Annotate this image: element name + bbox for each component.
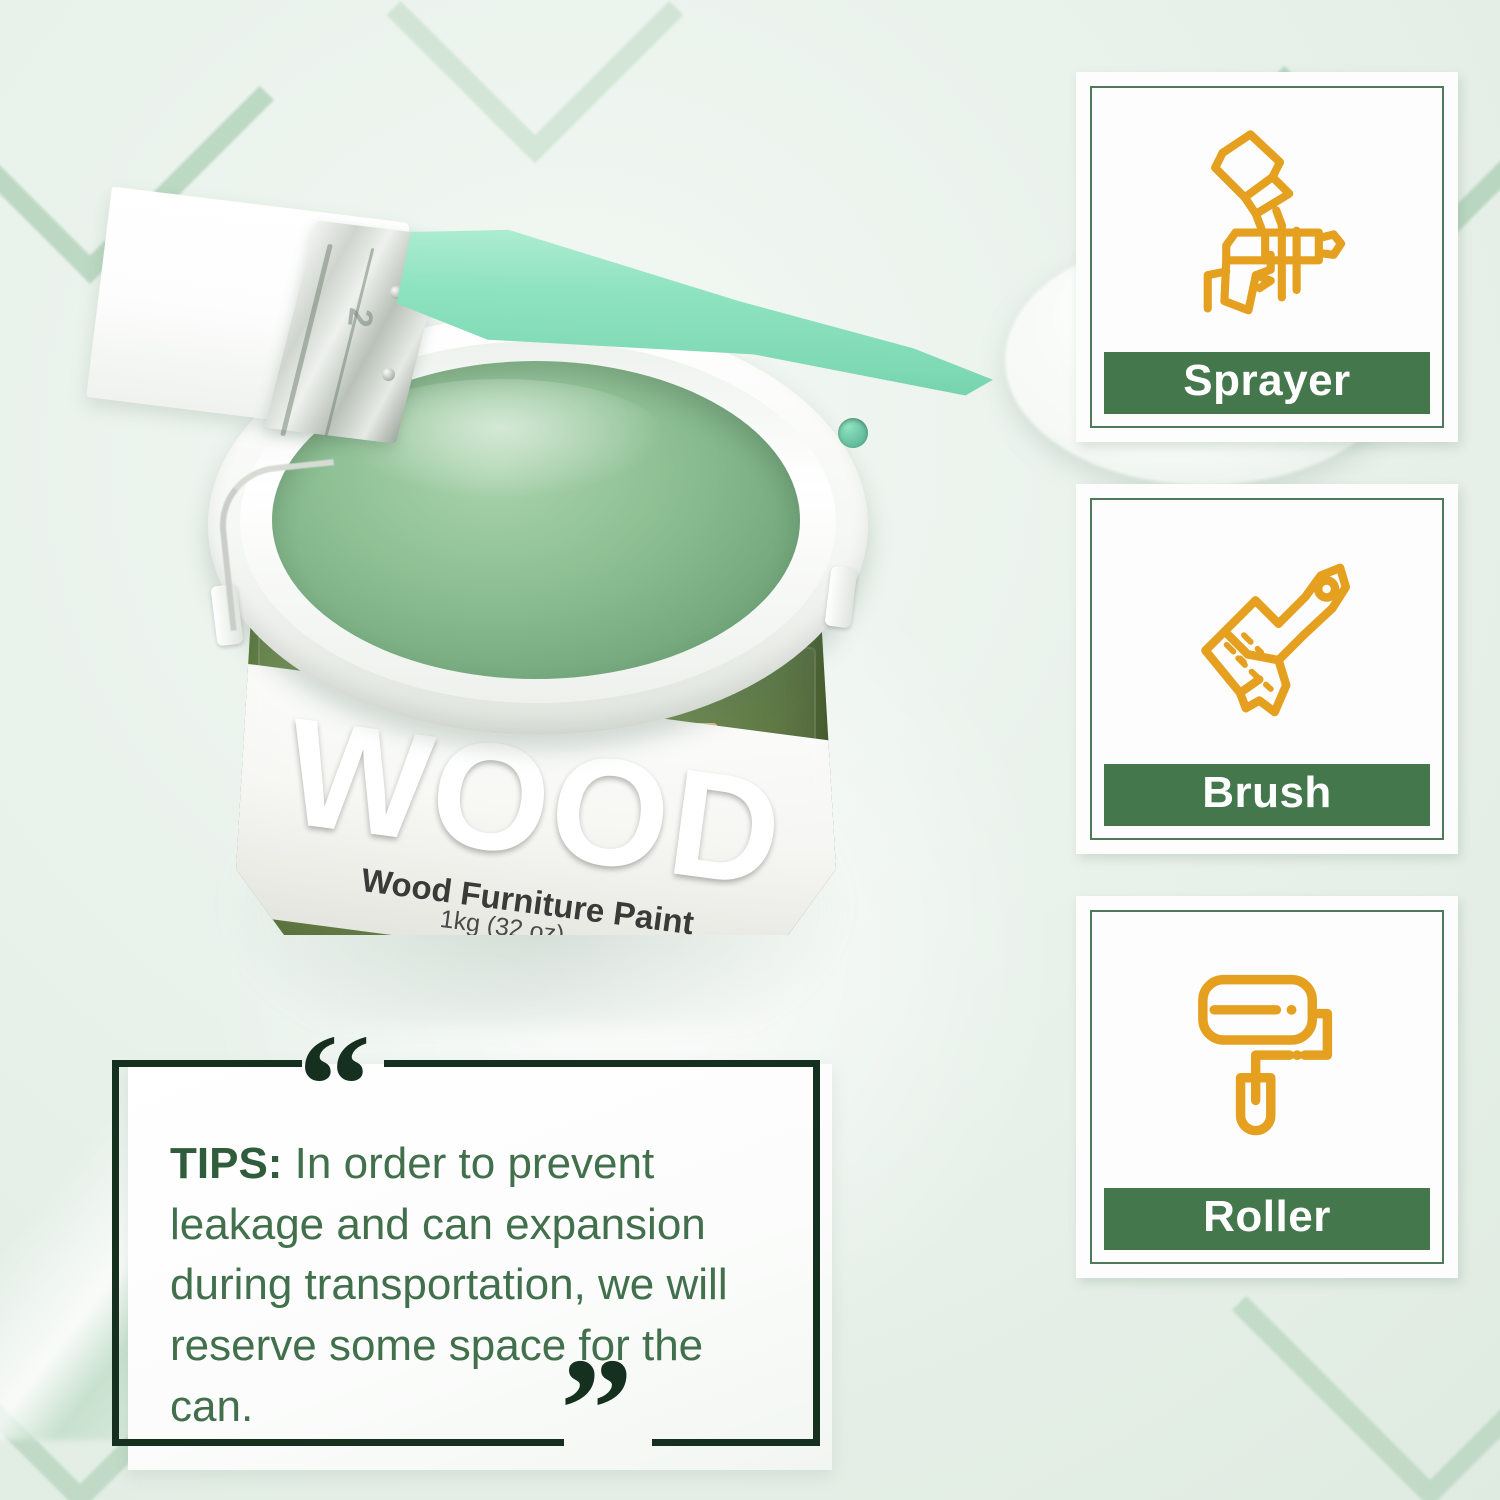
card-inner-border: Brush [1090,498,1444,840]
tips-callout: “ ” TIPS: In order to prevent leakage an… [112,1048,824,1458]
tips-border-bottom-right [652,1439,820,1446]
application-card-roller[interactable]: Roller [1076,896,1458,1278]
chevron-decor-icon [430,0,640,120]
card-inner-border: Roller [1090,910,1444,1264]
brush-handle [391,204,1005,446]
paint-brush-icon [1104,514,1430,764]
paint-brush: 2 [98,190,988,490]
ferrule-rivet [382,368,395,381]
card-inner-border: Sprayer [1090,86,1444,428]
card-label-roller: Roller [1104,1188,1430,1250]
tips-border-bottom-left [112,1439,564,1446]
tips-border-right [813,1060,820,1446]
tips-lead: TIPS: [170,1139,282,1188]
tips-text: TIPS: In order to prevent leakage and ca… [170,1134,770,1438]
tips-border-top-right [384,1060,820,1067]
spray-gun-icon [1104,102,1430,352]
card-label-brush: Brush [1104,764,1430,826]
tips-border-top-left [112,1060,302,1067]
brush-hang-hole [838,418,868,448]
application-card-sprayer[interactable]: Sprayer [1076,72,1458,442]
application-card-brush[interactable]: Brush [1076,484,1458,854]
product-infographic: Dwil WOOD Wood Furniture Paint 1kg (32 o… [0,0,1500,1500]
card-label-sprayer: Sprayer [1104,352,1430,414]
paint-roller-icon [1104,926,1430,1188]
tips-border-left [112,1060,119,1446]
